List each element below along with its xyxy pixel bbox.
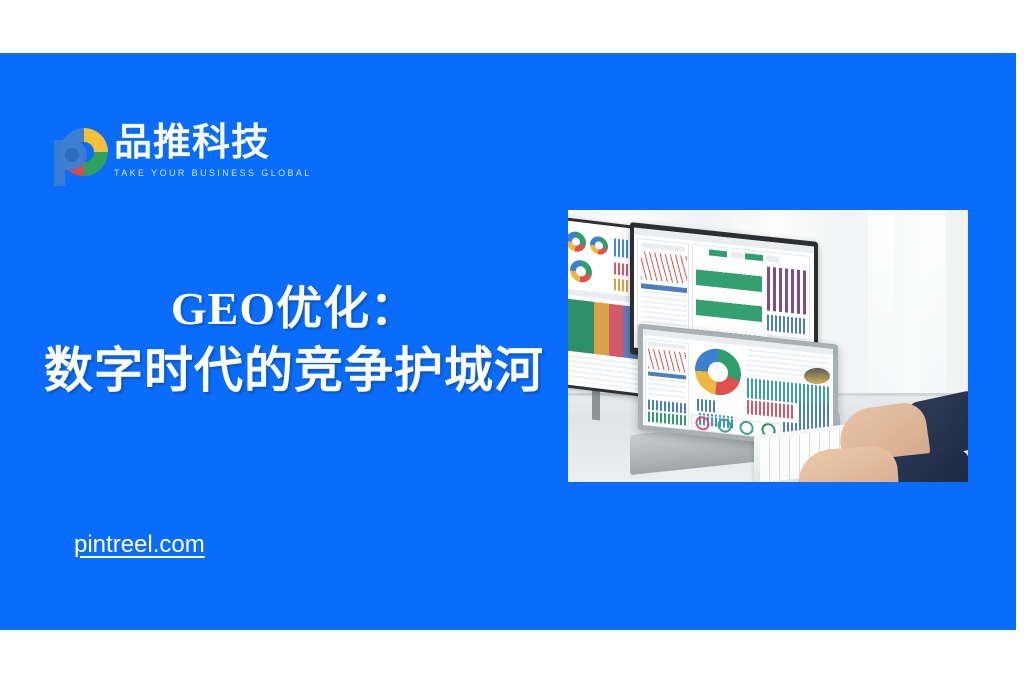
candlestick-chart [767,267,807,315]
pintreel-ring-logo-icon [48,120,110,186]
donut-chart [570,259,592,284]
tab[interactable] [745,253,763,261]
brand-tagline: TAKE YOUR BUSINESS GLOBAL [114,167,344,179]
area-chart [696,289,762,322]
left-monitor-stand [592,388,600,421]
stats-panel [645,338,689,427]
donut-chart [568,230,586,252]
line-chart [648,349,686,373]
bar-chart [747,400,795,419]
hero-photo [568,210,968,482]
brand-logo[interactable]: 品推科技 TAKE YOUR BUSINESS GLOBAL [48,118,348,190]
panel-title [641,242,685,252]
donut-chart [695,346,741,397]
brand-text-block: 品推科技 TAKE YOUR BUSINESS GLOBAL [114,122,344,179]
page-title: GEO优化： 数字时代的竞争护城河 [24,278,564,402]
tab-active[interactable] [709,249,727,257]
data-table [641,290,687,327]
area-chart [696,259,762,292]
data-table [568,354,640,389]
tab[interactable] [731,252,743,259]
window-pane [920,210,946,400]
site-url-link[interactable]: pintreel.com [74,530,205,560]
donut-chart [590,235,608,255]
laptop-screen [643,329,833,445]
window-pane [868,210,894,400]
brand-name: 品推科技 [114,122,344,164]
tab[interactable] [767,256,779,263]
bar-chart [648,412,686,426]
line-chart [641,251,687,284]
slide-canvas: 品推科技 TAKE YOUR BUSINESS GLOBAL GEO优化： 数字… [0,0,1024,683]
gantt-chart [767,315,807,335]
page-title-line-1: GEO优化： [24,278,564,340]
mouse [804,368,830,384]
bar-chart [697,399,715,413]
page-title-line-2: 数字时代的竞争护城河 [24,340,564,402]
data-table [648,378,686,402]
